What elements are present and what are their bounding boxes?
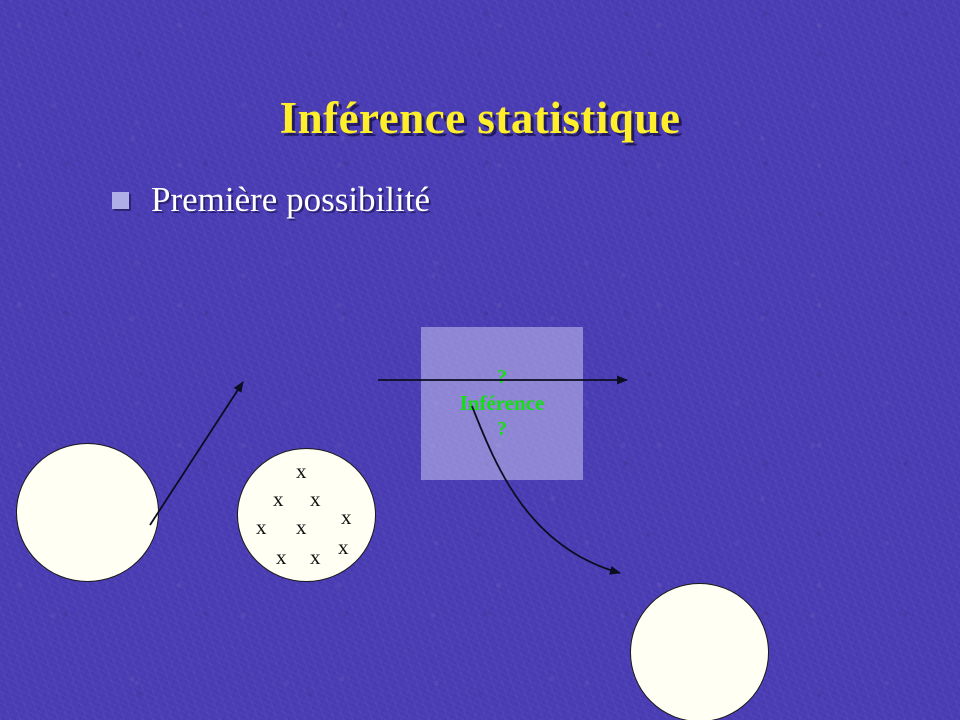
observation-mark: x xyxy=(256,517,267,538)
inference-question-bottom: ? xyxy=(497,417,507,442)
page-title: Inférence statistique xyxy=(0,92,960,144)
observation-mark: x xyxy=(338,537,349,558)
hypothesis-1-circle[interactable] xyxy=(630,583,769,720)
observation-mark: x xyxy=(273,489,284,510)
slide-canvas: Inférence statistique Première possibili… xyxy=(0,0,960,720)
sample-circle[interactable]: x x x x x x x x x xyxy=(237,448,376,582)
observation-mark: x xyxy=(341,507,352,528)
inference-question-top: ? xyxy=(497,365,507,390)
square-bullet-icon xyxy=(112,192,129,209)
inference-panel: ? Inférence ? xyxy=(421,327,583,480)
observation-mark: x xyxy=(296,517,307,538)
observation-mark: x xyxy=(310,547,321,568)
bullet-row: Première possibilité xyxy=(112,180,430,220)
population-circle[interactable] xyxy=(16,443,159,582)
observation-mark: x xyxy=(310,489,321,510)
bullet-text: Première possibilité xyxy=(151,180,430,220)
arrow-population-to-sample xyxy=(150,382,243,525)
observation-mark: x xyxy=(296,461,307,482)
observation-mark: x xyxy=(276,547,287,568)
inference-label: Inférence xyxy=(460,390,545,416)
